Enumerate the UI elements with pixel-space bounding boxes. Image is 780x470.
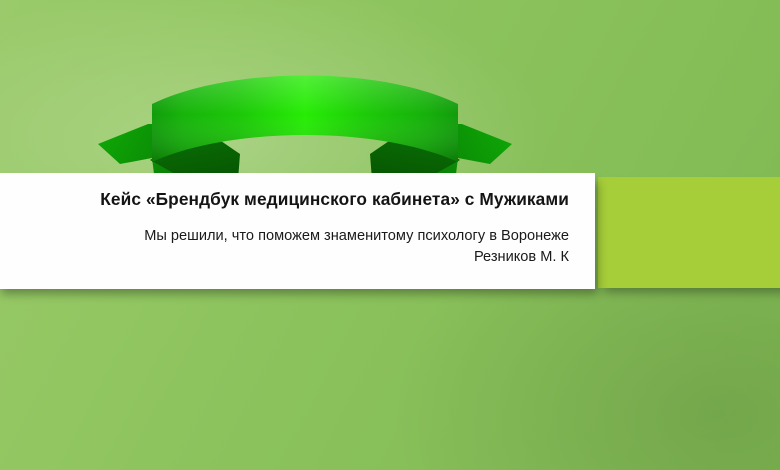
author-name: Резников М. К <box>0 247 569 268</box>
page-title: Кейс «Брендбук медицинского кабинета» с … <box>0 173 569 210</box>
green-accent-rectangle <box>598 177 780 288</box>
green-arched-ribbon-banner <box>90 72 520 187</box>
slide-subtitle: Мы решили, что поможем знаменитому психо… <box>0 210 569 268</box>
title-text-panel: Кейс «Брендбук медицинского кабинета» с … <box>0 173 595 289</box>
subtitle-line-1: Мы решили, что поможем знаменитому психо… <box>144 228 569 244</box>
presentation-slide: Кейс «Брендбук медицинского кабинета» с … <box>0 0 780 470</box>
title-text-block: Кейс «Брендбук медицинского кабинета» с … <box>0 173 569 289</box>
